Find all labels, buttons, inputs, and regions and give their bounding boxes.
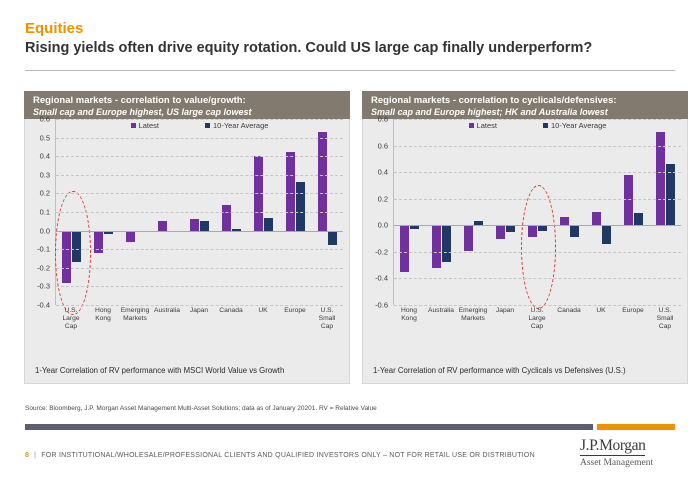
panel-header-title-left: Regional markets - correlation to value/… xyxy=(33,96,342,106)
logo-tagline: Asset Management xyxy=(580,458,675,469)
bar-latest xyxy=(496,225,505,238)
x-axis-label: UK xyxy=(585,307,617,347)
y-axis-tick-label: 0.6 xyxy=(40,115,50,124)
gridline xyxy=(394,305,681,306)
x-axis-label: Canada xyxy=(215,307,247,347)
bar-groups-right xyxy=(394,119,681,305)
gridline xyxy=(56,249,343,250)
page-eyebrow: Equities xyxy=(25,20,675,37)
bar-latest xyxy=(464,225,473,250)
slide-root: Equities Rising yields often drive equit… xyxy=(0,0,700,484)
x-axis-label: U.S. Small Cap xyxy=(649,307,681,347)
bar-group xyxy=(458,119,490,305)
bar-ten-year-average xyxy=(634,213,643,225)
bar-ten-year-average xyxy=(442,225,451,262)
panel-header-subtitle-right: Small cap and Europe highest; HK and Aus… xyxy=(371,107,680,117)
y-axis-tick-label: 0.4 xyxy=(378,168,388,177)
panel-header-left: Regional markets - correlation to value/… xyxy=(24,91,350,119)
chart-footnote-right: 1-Year Correlation of RV performance wit… xyxy=(373,366,626,375)
bar-ten-year-average xyxy=(296,182,305,230)
source-line: Source: Bloomberg, J.P. Morgan Asset Man… xyxy=(25,405,377,412)
bar-latest xyxy=(318,132,327,231)
gridline xyxy=(394,252,681,253)
x-axis-label: U.S. Small Cap xyxy=(311,307,343,347)
y-axis-tick-label: -0.4 xyxy=(37,301,50,310)
x-axis-label: U.S. Large Cap xyxy=(521,307,553,347)
bar-group xyxy=(617,119,649,305)
bar-latest xyxy=(560,217,569,225)
y-axis-tick-label: -0.2 xyxy=(375,247,388,256)
bar-latest xyxy=(158,221,167,230)
x-axis-label: Emerging Markets xyxy=(119,307,151,347)
x-axis-label: Hong Kong xyxy=(87,307,119,347)
bar-latest xyxy=(400,225,409,272)
bar-latest xyxy=(222,205,231,231)
y-axis-tick-label: 0.6 xyxy=(378,141,388,150)
panel-header-subtitle-left: Small cap and Europe highest, US large c… xyxy=(33,107,342,117)
gridline xyxy=(56,175,343,176)
gridline xyxy=(394,278,681,279)
panel-header-right: Regional markets - correlation to cyclic… xyxy=(362,91,688,119)
footer-pipe: | xyxy=(34,452,36,459)
zero-line xyxy=(394,225,681,226)
y-axis-tick-label: 0.3 xyxy=(40,170,50,179)
plot-area-right: Latest 10-Year Average xyxy=(393,119,681,305)
bar-latest xyxy=(62,231,71,283)
x-axis-label: Japan xyxy=(183,307,215,347)
gridline xyxy=(56,193,343,194)
y-axis-tick-label: 0.2 xyxy=(40,189,50,198)
x-axis-label: U.S. Large Cap xyxy=(55,307,87,347)
y-axis-tick-label: 0.0 xyxy=(40,226,50,235)
footer-disclaimer: FOR INSTITUTIONAL/WHOLESALE/PROFESSIONAL… xyxy=(41,452,535,459)
bar-ten-year-average xyxy=(570,225,579,237)
footer-rule-orange xyxy=(597,424,675,430)
y-axis-tick-label: -0.4 xyxy=(375,274,388,283)
page-number: 8 xyxy=(25,452,29,459)
x-axis-label: Canada xyxy=(553,307,585,347)
bar-group xyxy=(522,119,554,305)
gridline xyxy=(56,156,343,157)
gridline xyxy=(56,286,343,287)
y-axis-tick-label: -0.1 xyxy=(37,245,50,254)
bar-latest xyxy=(624,175,633,225)
gridline xyxy=(56,138,343,139)
bar-ten-year-average xyxy=(602,225,611,244)
gridline xyxy=(56,212,343,213)
bar-group xyxy=(553,119,585,305)
x-axis-label: Australia xyxy=(425,307,457,347)
bar-group xyxy=(426,119,458,305)
panel-body-right: 0.80.60.40.20.0-0.2-0.4-0.6 Latest 10-Ye… xyxy=(362,119,688,384)
chart-value-growth: 0.60.50.40.30.20.10.0-0.1-0.2-0.3-0.4 La… xyxy=(25,119,349,347)
title-divider xyxy=(25,70,675,71)
panel-cyclicals-defensives: Regional markets - correlation to cyclic… xyxy=(362,91,688,384)
x-axis-label: Australia xyxy=(151,307,183,347)
bar-group xyxy=(394,119,426,305)
bar-ten-year-average xyxy=(200,221,209,230)
y-axis-right: 0.80.60.40.20.0-0.2-0.4-0.6 xyxy=(363,119,391,305)
bar-latest xyxy=(286,152,295,230)
x-axis-label: Europe xyxy=(617,307,649,347)
bar-latest xyxy=(528,225,537,237)
bar-latest xyxy=(592,212,601,225)
bar-group xyxy=(649,119,681,305)
bar-group xyxy=(585,119,617,305)
x-axis-label: Emerging Markets xyxy=(457,307,489,347)
y-axis-tick-label: 0.2 xyxy=(378,194,388,203)
chart-cyclicals-defensives: 0.80.60.40.20.0-0.2-0.4-0.6 Latest 10-Ye… xyxy=(363,119,687,347)
logo-wordmark: J.P.Morgan xyxy=(580,438,645,456)
y-axis-tick-label: 0.8 xyxy=(378,115,388,124)
y-axis-tick-label: 0.4 xyxy=(40,152,50,161)
gridline xyxy=(394,199,681,200)
y-axis-tick-label: 0.5 xyxy=(40,133,50,142)
gridline xyxy=(394,146,681,147)
zero-line xyxy=(56,231,343,232)
x-axis-label: Europe xyxy=(279,307,311,347)
bar-ten-year-average xyxy=(72,231,81,263)
y-axis-tick-label: -0.3 xyxy=(37,282,50,291)
x-axis-label: UK xyxy=(247,307,279,347)
gridline xyxy=(56,305,343,306)
gridline xyxy=(394,119,681,120)
x-axis-label: Japan xyxy=(489,307,521,347)
bar-latest xyxy=(126,231,135,242)
panel-value-growth: Regional markets - correlation to value/… xyxy=(24,91,350,384)
plot-area-left: Latest 10-Year Average xyxy=(55,119,343,305)
y-axis-tick-label: 0.0 xyxy=(378,221,388,230)
bar-latest xyxy=(432,225,441,268)
footer-rule-gray xyxy=(25,424,593,430)
y-axis-tick-label: 0.1 xyxy=(40,208,50,217)
x-axis-labels-right: Hong KongAustraliaEmerging MarketsJapanU… xyxy=(393,307,681,347)
gridline xyxy=(394,172,681,173)
bar-ten-year-average xyxy=(264,218,273,231)
page-title: Rising yields often drive equity rotatio… xyxy=(25,39,675,58)
panel-header-title-right: Regional markets - correlation to cyclic… xyxy=(371,96,680,106)
jpmorgan-logo: J.P.Morgan Asset Management xyxy=(580,437,675,469)
bar-latest xyxy=(190,219,199,230)
chart-footnote-left: 1-Year Correlation of RV performance wit… xyxy=(35,366,284,375)
x-axis-labels-left: U.S. Large CapHong KongEmerging MarketsA… xyxy=(55,307,343,347)
gridline xyxy=(56,119,343,120)
y-axis-left: 0.60.50.40.30.20.10.0-0.1-0.2-0.3-0.4 xyxy=(25,119,53,305)
bar-group xyxy=(490,119,522,305)
bar-ten-year-average xyxy=(666,164,675,225)
panel-body-left: 0.60.50.40.30.20.10.0-0.1-0.2-0.3-0.4 La… xyxy=(24,119,350,384)
gridline xyxy=(56,268,343,269)
footer: 8 | FOR INSTITUTIONAL/WHOLESALE/PROFESSI… xyxy=(25,452,535,459)
bar-ten-year-average xyxy=(328,231,337,246)
x-axis-label: Hong Kong xyxy=(393,307,425,347)
title-block: Equities Rising yields often drive equit… xyxy=(25,20,675,58)
y-axis-tick-label: -0.6 xyxy=(375,301,388,310)
y-axis-tick-label: -0.2 xyxy=(37,263,50,272)
